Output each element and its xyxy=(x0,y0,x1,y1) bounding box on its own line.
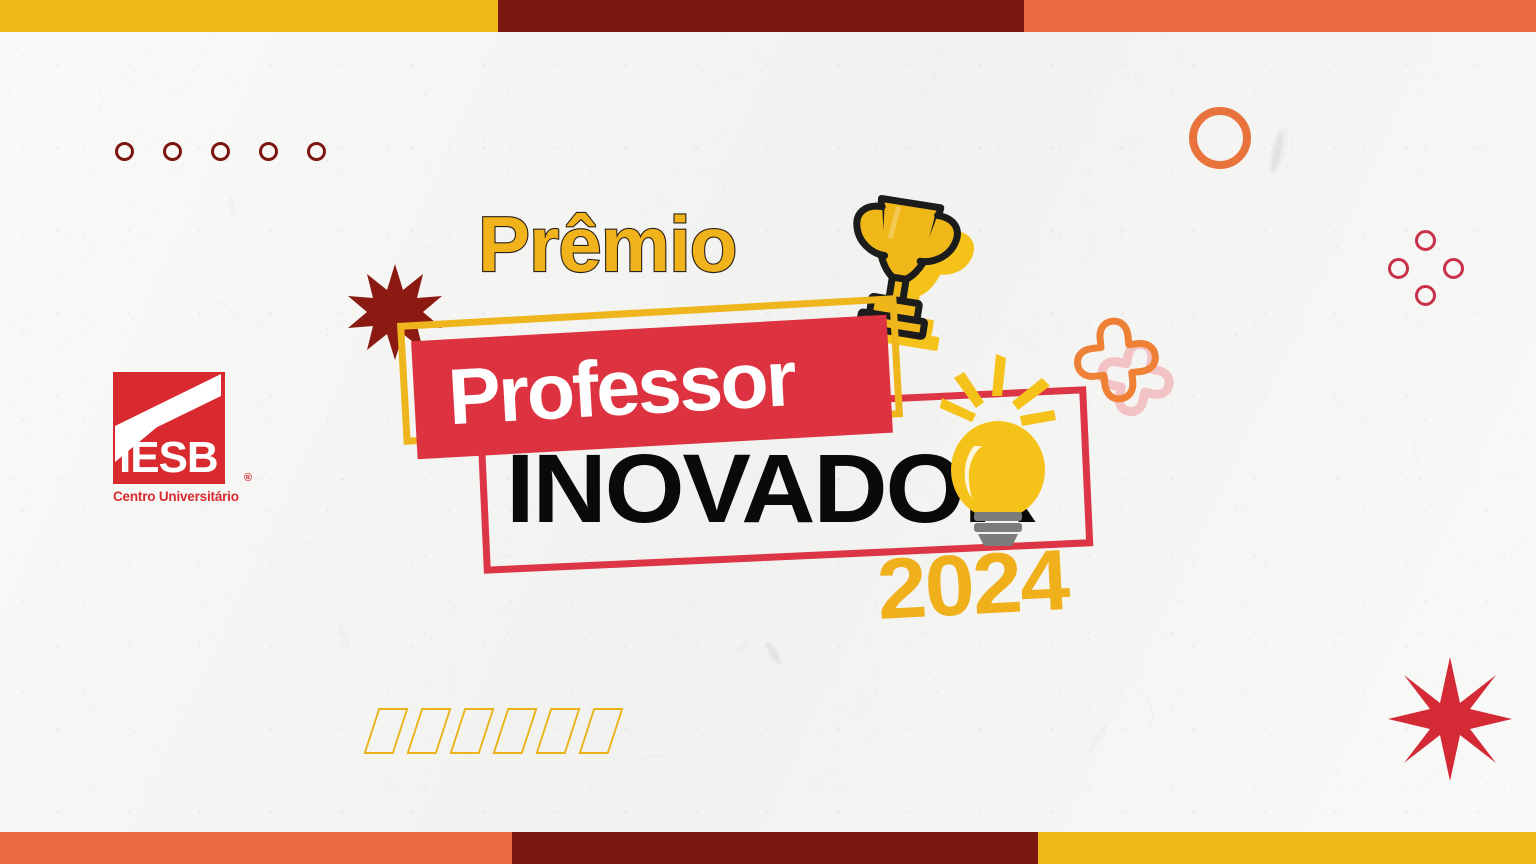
poster-canvas: IESB Centro Universitário ® Prêmio xyxy=(0,0,1536,864)
year-label: 2024 xyxy=(875,537,1070,633)
headline-group: Prêmio xyxy=(0,0,1536,864)
lightbulb-icon xyxy=(938,352,1058,552)
premio-title: Prêmio xyxy=(478,205,736,283)
professor-label: Professor xyxy=(446,338,796,436)
